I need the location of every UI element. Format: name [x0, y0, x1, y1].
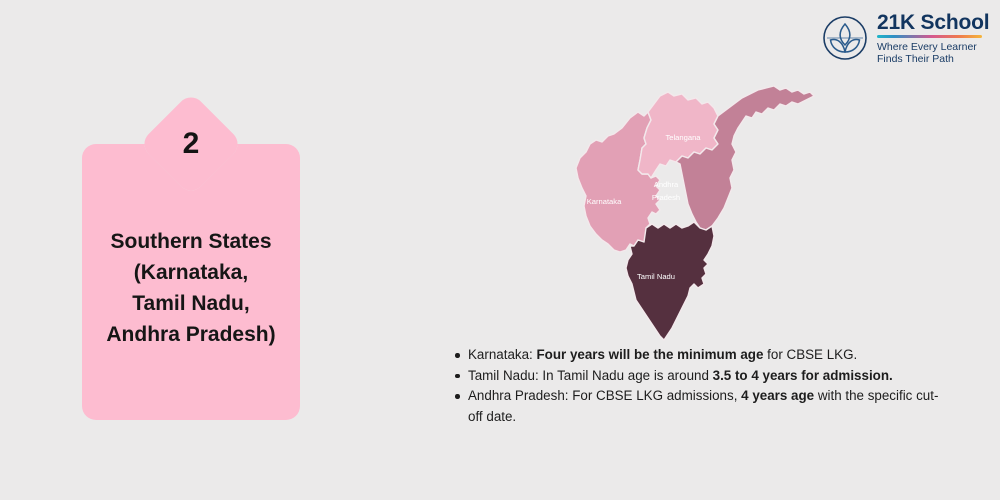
state-age-criteria-list: Karnataka: Four years will be the minimu…: [452, 345, 952, 427]
bullet-karnataka-part-0: Karnataka:: [468, 347, 536, 362]
southern-states-card: 2 Southern States (Karnataka, Tamil Nadu…: [82, 98, 300, 420]
card-title-line: Andhra Pradesh): [88, 319, 294, 350]
bullet-andhra-pradesh-part-0: Andhra Pradesh: For CBSE LKG admissions,: [468, 388, 741, 403]
lotus-circle-logo-icon: [822, 15, 868, 61]
card-title-line: Tamil Nadu,: [88, 288, 294, 319]
map-label-andhra-pradesh-line2: Pradesh: [652, 193, 680, 202]
step-number-label: 2: [151, 129, 231, 159]
map-label-karnataka: Karnataka: [587, 197, 622, 206]
bullet-andhra-pradesh: Andhra Pradesh: For CBSE LKG admissions,…: [452, 386, 952, 427]
brand-title: 21K School: [877, 12, 989, 33]
brand-gradient-rule: [877, 35, 982, 38]
card-title-line: (Karnataka,: [88, 257, 294, 288]
bullet-tamil-nadu: Tamil Nadu: In Tamil Nadu age is around …: [452, 366, 952, 387]
map-label-telangana: Telangana: [665, 133, 701, 142]
southern-india-states-map: Telangana Karnataka Andhra Pradesh Tamil…: [556, 78, 830, 354]
brand-logo[interactable]: 21K School Where Every Learner Finds The…: [822, 12, 992, 64]
card-title: Southern States (Karnataka, Tamil Nadu, …: [82, 226, 300, 350]
brand-logo-text: 21K School Where Every Learner Finds The…: [877, 11, 989, 66]
bullet-karnataka-part-2: for CBSE LKG.: [763, 347, 857, 362]
bullet-andhra-pradesh-part-1: 4 years age: [741, 388, 814, 403]
brand-tagline-line2: Finds Their Path: [877, 53, 989, 66]
bullet-tamil-nadu-part-1: 3.5 to 4 years for admission.: [713, 368, 893, 383]
map-label-tamil-nadu: Tamil Nadu: [637, 272, 675, 281]
bullet-karnataka: Karnataka: Four years will be the minimu…: [452, 345, 952, 366]
map-region-tamil-nadu[interactable]: [626, 222, 714, 340]
map-label-andhra-pradesh-line1: Andhra: [654, 180, 679, 189]
bullet-karnataka-part-1: Four years will be the minimum age: [536, 347, 763, 362]
bullet-tamil-nadu-part-0: Tamil Nadu: In Tamil Nadu age is around: [468, 368, 713, 383]
card-title-line: Southern States: [88, 226, 294, 257]
brand-tagline-line1: Where Every Learner: [877, 41, 989, 54]
